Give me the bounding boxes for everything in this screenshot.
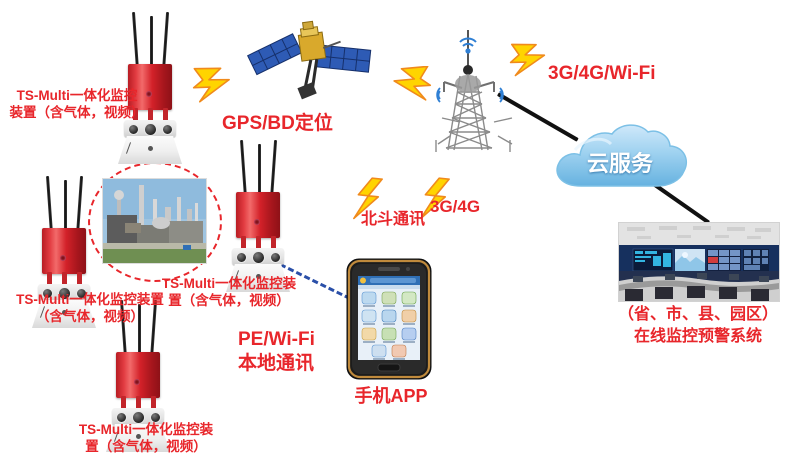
cloud-service: 云服务 [545, 118, 695, 200]
label-device-mid: TS-Multi一体化监控装 置（含气体，视频） [154, 276, 304, 310]
ts-multi-device-mid [216, 140, 308, 292]
cloud-label: 云服务 [545, 146, 695, 178]
sensor-ring [124, 120, 176, 137]
label-device-top: TS-Multi一体化监控 装置（含气体，视频） [2, 88, 152, 122]
communication-tower [424, 18, 536, 156]
label-device-left: TS-Multi一体化监控装置 （含气体，视频） [0, 292, 180, 326]
sensor-ring [232, 248, 284, 265]
tower-icon [424, 18, 536, 156]
mobile-app-tablet[interactable] [346, 258, 432, 380]
label-control-center: （省、市、县、园区） 在线监控预警系统 [603, 304, 793, 347]
label-mobile-app: 手机APP [348, 385, 434, 408]
industrial-plant-photo [102, 178, 207, 264]
label-beidou: 北斗通讯 [348, 210, 438, 230]
label-gps-bd: GPS/BD定位 [222, 112, 352, 136]
lightning-bolt-icon [188, 66, 246, 108]
label-pe-wifi: PE/Wi-Fi 本地通讯 [238, 328, 348, 376]
bolt-satellite-to-tower [378, 66, 436, 108]
lightning-bolt-icon [378, 66, 436, 108]
diagram-canvas: 云服务 [0, 0, 797, 464]
satellite [246, 6, 374, 102]
label-3g4g: 3G/4G [430, 196, 504, 217]
tablet-icon [346, 258, 432, 380]
label-device-bottom: TS-Multi一体化监控装 置（含气体，视频） [66, 422, 226, 456]
satellite-icon [246, 6, 374, 102]
label-3g4g-wifi: 3G/4G/Wi-Fi [548, 62, 698, 86]
bolt-device-to-satellite [188, 66, 246, 108]
control-room-photo [618, 222, 780, 302]
